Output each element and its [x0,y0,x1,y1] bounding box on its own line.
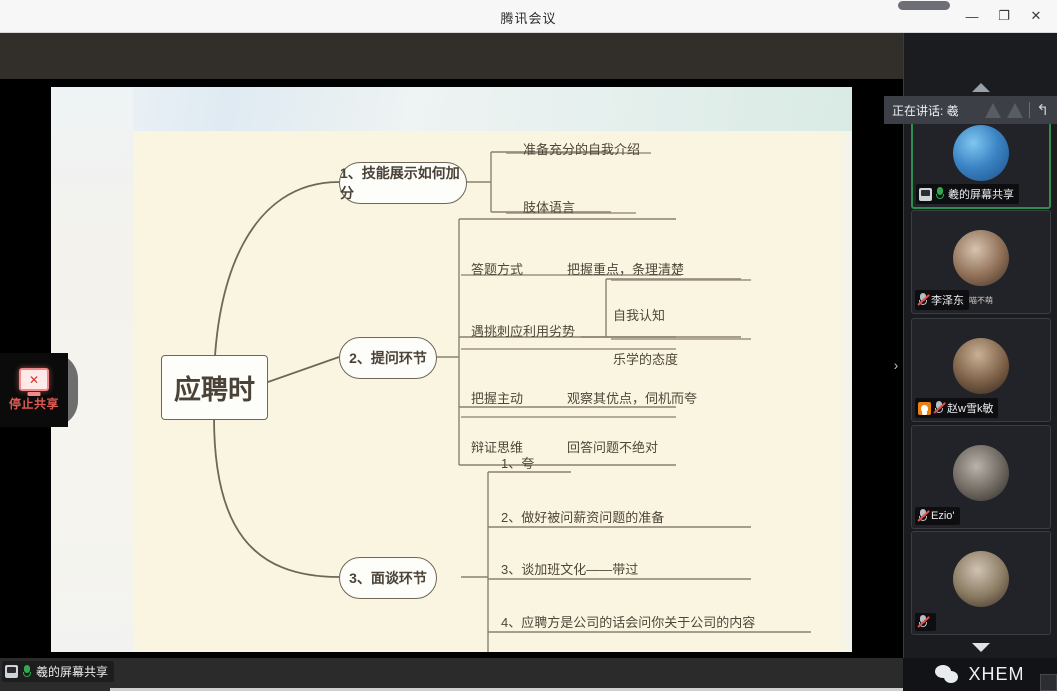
mindmap-leaf[interactable]: 1、夸 [501,453,534,472]
back-arrow-icon[interactable]: ↰ [1036,101,1049,119]
avatar [953,125,1009,181]
mindmap-leaf-sub[interactable]: 把握重点，条理清楚 [567,259,684,278]
avatar-caption: 喵不萌 [969,295,993,306]
divider [1029,102,1030,118]
bottom-right-tab[interactable] [1040,674,1057,691]
window-title: 腾讯会议 [0,8,1057,27]
triangle-down-icon[interactable] [972,643,990,652]
mindmap-leaf[interactable]: 答题方式 [471,259,523,278]
participant-name: 赵w雪k敏 [947,400,993,416]
participant-name: Ezio' [931,510,955,522]
participant-namebar: 李泽东 [915,290,969,310]
audio-wave-icon [985,103,1001,118]
mic-muted-icon [918,509,928,523]
screen-share-icon [5,665,18,678]
mindmap-leaf[interactable]: 3、谈加班文化——带过 [501,559,638,578]
speaking-label: 正在讲话: 羲 [892,102,979,119]
maximize-button[interactable]: ❐ [989,4,1019,28]
speaking-indicator-bar: 正在讲话: 羲 ↰ [884,96,1057,124]
mindmap-leaf[interactable]: 遇挑刺应利用劣势 [471,321,575,340]
wechat-icon [935,665,961,685]
mindmap-branch-2[interactable]: 2、提问环节 [339,337,437,379]
shared-content-canvas: 应聘时 1、技能展示如何加分 准备充分的自我介绍 肢体语言 2、提问环节 答题方… [51,87,852,652]
mindmap-root-node[interactable]: 应聘时 [161,355,268,420]
participants-sidebar: 羲的屏幕共享喵不萌李泽东赵w雪k敏Ezio' [903,33,1057,658]
mindmap-branch-1[interactable]: 1、技能展示如何加分 [339,162,467,204]
mindmap-leaf[interactable]: 准备充分的自我介绍 [523,139,640,158]
participant-namebar [915,613,936,631]
screen-stop-icon: ✕ [19,368,49,391]
mindmap-leaf-sub[interactable]: 乐学的态度 [613,349,678,368]
wechat-watermark: XHEM [903,658,1057,691]
participant-namebar: 赵w雪k敏 [915,398,998,418]
avatar [953,230,1009,286]
taskbar-share-item[interactable]: 羲的屏幕共享 [2,661,114,682]
sidebar-collapse-handle[interactable]: › [889,345,903,385]
avatar [953,445,1009,501]
participant-namebar: 羲的屏幕共享 [916,184,1019,204]
mindmap-leaf[interactable]: 肢体语言 [523,197,575,216]
mic-muted-icon [934,401,944,415]
taskbar-share-label: 羲的屏幕共享 [36,663,108,680]
mic-muted-icon [918,615,928,629]
participant-tile[interactable]: 喵不萌李泽东 [911,210,1051,314]
taskbar: 羲的屏幕共享 [0,658,903,691]
participant-tile[interactable]: 赵w雪k敏 [911,318,1051,422]
mic-icon [22,665,32,679]
stop-share-label: 停止共享 [9,395,59,412]
stage-letterbox-top [0,33,903,79]
audio-wave-icon [1007,103,1023,118]
mindmap-branch-3[interactable]: 3、面谈环节 [339,557,437,599]
mindmap-leaf-sub[interactable]: 观察其优点，伺机而夸 [567,388,697,407]
mindmap-leaf-sub[interactable]: 自我认知 [613,305,665,324]
participant-tile[interactable] [911,531,1051,635]
avatar [953,551,1009,607]
wechat-id-text: XHEM [968,664,1024,685]
mindmap-leaf[interactable]: 把握主动 [471,388,523,407]
mindmap-leaf[interactable]: 2、做好被问薪资问题的准备 [501,507,664,526]
avatar [953,338,1009,394]
mindmap-leaf-sub[interactable]: 回答问题不绝对 [567,437,658,456]
participant-namebar: Ezio' [915,507,960,525]
participant-name: 羲的屏幕共享 [948,186,1014,202]
triangle-up-icon[interactable] [972,83,990,92]
participant-tile[interactable]: Ezio' [911,425,1051,529]
close-button[interactable]: ✕ [1021,4,1051,28]
participant-name: 李泽东 [931,292,964,308]
stop-share-button[interactable]: ✕ 停止共享 [0,353,68,427]
mic-muted-icon [918,293,928,307]
shared-screen-stage: 应聘时 1、技能展示如何加分 准备充分的自我介绍 肢体语言 2、提问环节 答题方… [0,33,903,658]
mic-icon [935,187,945,201]
window-titlebar: 腾讯会议 — ❐ ✕ [0,0,1057,33]
mindmap-leaf[interactable]: 4、应聘方是公司的话会问你关于公司的内容 [501,612,755,631]
window-controls: — ❐ ✕ [957,4,1051,28]
volume-slider-track[interactable] [898,1,950,10]
host-icon [918,402,931,415]
screen-share-icon [919,188,932,201]
minimize-button[interactable]: — [957,4,987,28]
